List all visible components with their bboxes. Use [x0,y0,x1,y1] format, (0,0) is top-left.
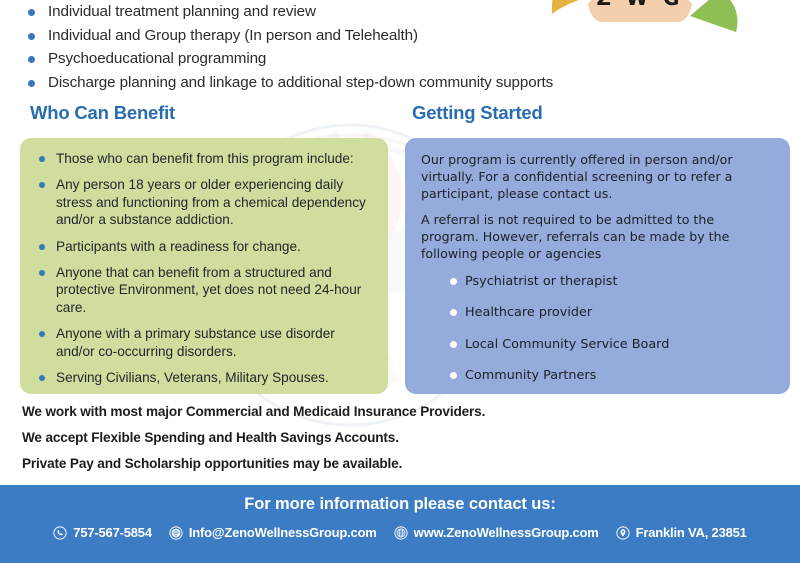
who-can-benefit-panel: Those who can benefit from this program … [20,138,388,394]
paragraph: A referral is not required to be admitte… [421,211,774,262]
bullet-dot-icon [39,182,45,188]
bullet-dot-icon [28,56,35,63]
list-item: Healthcare provider [443,304,774,321]
footer-title: For more information please contact us: [0,485,800,514]
contact-phone[interactable]: 757-567-5854 [53,525,152,540]
bullet-dot-icon [39,270,45,276]
contact-website[interactable]: www.ZenoWellnessGroup.com [394,525,599,540]
list-item-label: Individual and Group therapy (In person … [48,27,418,44]
payment-notes: We work with most major Commercial and M… [22,404,642,482]
list-item: Psychoeducational programming [22,49,612,69]
section-heading-getting-started: Getting Started [412,102,543,124]
bullet-dot-icon [450,278,457,285]
bullet-dot-icon [450,372,457,379]
list-item-label: Participants with a readiness for change… [56,239,301,254]
contact-row: 757-567-5854 Info@ZenoWellnessGroup.com [0,525,800,540]
getting-started-panel: Our program is currently offered in pers… [405,138,790,394]
list-item: Psychiatrist or therapist [443,273,774,290]
zwg-logo: Z W G [540,0,740,64]
list-item: Serving Civilians, Veterans, Military Sp… [32,369,374,386]
contact-address[interactable]: Franklin VA, 23851 [616,525,747,540]
logo-text: Z W G [540,0,740,10]
list-item-label: Local Community Service Board [465,337,669,352]
note-line: Private Pay and Scholarship opportunitie… [22,456,642,471]
contact-website-value: www.ZenoWellnessGroup.com [414,525,599,540]
bullet-dot-icon [39,156,45,162]
bullet-dot-icon [28,80,35,87]
list-item-label: Anyone that can benefit from a structure… [56,265,361,315]
services-list: Individual treatment planning and review… [22,2,612,96]
flyer-page: Individual treatment planning and review… [0,0,800,563]
list-item: Any person 18 years or older experiencin… [32,176,374,228]
list-item-label: Anyone with a primary substance use diso… [56,326,335,358]
contact-footer: For more information please contact us: … [0,485,800,563]
bullet-dot-icon [450,341,457,348]
list-item-label: Community Partners [465,368,596,383]
bullet-dot-icon [39,331,45,337]
bullet-dot-icon [39,244,45,250]
bullet-dot-icon [39,375,45,381]
phone-icon [53,526,67,540]
note-line: We accept Flexible Spending and Health S… [22,430,642,445]
contact-address-value: Franklin VA, 23851 [636,525,747,540]
contact-phone-value: 757-567-5854 [73,525,152,540]
paragraph: Our program is currently offered in pers… [421,151,774,202]
list-item: Individual and Group therapy (In person … [22,26,612,46]
contact-email[interactable]: Info@ZenoWellnessGroup.com [169,525,377,540]
list-item-label: Discharge planning and linkage to additi… [48,74,553,91]
list-item: Community Partners [443,367,774,384]
list-item-label: Individual treatment planning and review [48,3,316,20]
list-item-label: Those who can benefit from this program … [56,151,354,166]
list-item: Local Community Service Board [443,336,774,353]
list-item-label: Psychoeducational programming [48,50,266,67]
list-item: Anyone with a primary substance use diso… [32,325,374,360]
globe-icon [394,526,408,540]
list-item-label: Any person 18 years or older experiencin… [56,177,366,227]
list-item: Individual treatment planning and review [22,2,612,22]
list-item: Those who can benefit from this program … [32,150,374,167]
list-item: Anyone that can benefit from a structure… [32,264,374,316]
bullet-dot-icon [28,33,35,40]
location-icon [616,526,630,540]
referral-sources-list: Psychiatrist or therapist Healthcare pro… [421,273,774,385]
email-icon [169,526,183,540]
list-item: Discharge planning and linkage to additi… [22,73,612,93]
list-item-label: Healthcare provider [465,305,592,320]
list-item-label: Psychiatrist or therapist [465,274,618,289]
contact-email-value: Info@ZenoWellnessGroup.com [189,525,377,540]
bullet-dot-icon [28,9,35,16]
list-item-label: Serving Civilians, Veterans, Military Sp… [56,370,329,385]
list-item: Participants with a readiness for change… [32,238,374,255]
note-line: We work with most major Commercial and M… [22,404,642,419]
bullet-dot-icon [450,309,457,316]
section-heading-who-can-benefit: Who Can Benefit [30,102,175,124]
